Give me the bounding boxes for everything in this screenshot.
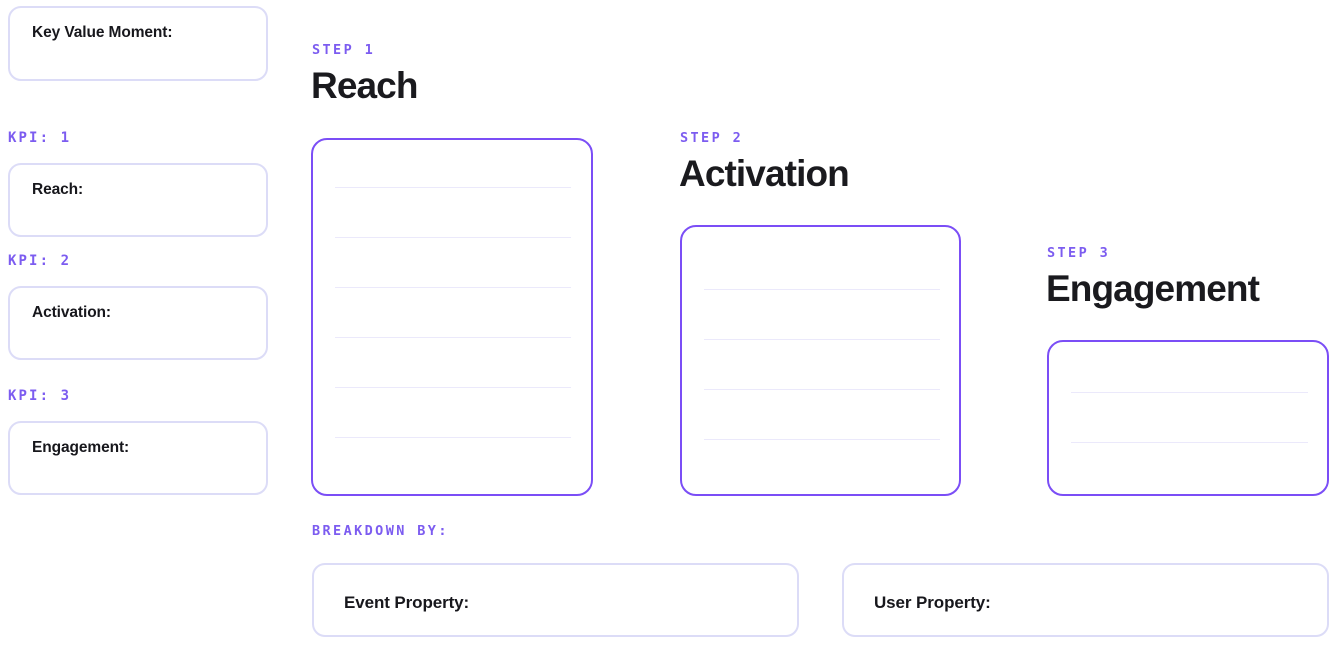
- event-property-label: Event Property:: [344, 593, 469, 613]
- step-1-rule-2: [335, 237, 571, 238]
- step-2-eyebrow: STEP 2: [680, 130, 743, 146]
- step-3-rule-2: [1071, 442, 1308, 443]
- kpi-2-eyebrow: KPI: 2: [8, 253, 71, 269]
- kpi-3-card[interactable]: Engagement:: [8, 421, 268, 495]
- step-1-rule-3: [335, 287, 571, 288]
- kpi-1-label: Reach:: [32, 181, 83, 199]
- kpi-2-label: Activation:: [32, 304, 111, 322]
- kpi-2-card[interactable]: Activation:: [8, 286, 268, 360]
- key-value-moment-card[interactable]: Key Value Moment:: [8, 6, 268, 81]
- worksheet-canvas: Key Value Moment: KPI: 1 Reach: KPI: 2 A…: [0, 0, 1337, 646]
- step-3-title: Engagement: [1046, 269, 1259, 310]
- step-2-rule-3: [704, 389, 940, 390]
- step-1-rule-6: [335, 437, 571, 438]
- step-1-eyebrow: STEP 1: [312, 42, 375, 58]
- step-2-title: Activation: [679, 154, 849, 195]
- user-property-label: User Property:: [874, 593, 991, 613]
- event-property-card[interactable]: Event Property:: [312, 563, 799, 637]
- user-property-card[interactable]: User Property:: [842, 563, 1329, 637]
- step-2-rule-1: [704, 289, 940, 290]
- key-value-moment-label: Key Value Moment:: [32, 24, 172, 42]
- kpi-1-card[interactable]: Reach:: [8, 163, 268, 237]
- step-2-rule-2: [704, 339, 940, 340]
- step-1-rule-1: [335, 187, 571, 188]
- step-3-card[interactable]: [1047, 340, 1329, 496]
- step-3-eyebrow: STEP 3: [1047, 245, 1110, 261]
- step-3-rule-1: [1071, 392, 1308, 393]
- kpi-1-eyebrow: KPI: 1: [8, 130, 71, 146]
- kpi-3-label: Engagement:: [32, 439, 129, 457]
- step-2-card[interactable]: [680, 225, 961, 496]
- step-1-title: Reach: [311, 66, 418, 107]
- step-2-rule-4: [704, 439, 940, 440]
- kpi-3-eyebrow: KPI: 3: [8, 388, 71, 404]
- step-1-rule-4: [335, 337, 571, 338]
- step-1-rule-5: [335, 387, 571, 388]
- step-1-card[interactable]: [311, 138, 593, 496]
- breakdown-eyebrow: BREAKDOWN BY:: [312, 523, 449, 539]
